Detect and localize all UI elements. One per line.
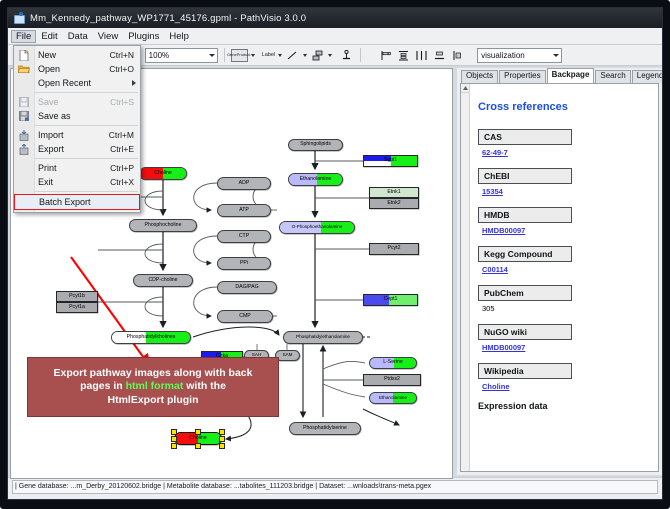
label-dropdown-icon[interactable] (278, 54, 282, 57)
pathvisio-window: Mm_Kennedy_pathway_WP1771_45176.gpml - P… (7, 7, 663, 500)
menu-label-save: Save (34, 97, 110, 107)
xref-value-kegg[interactable]: C00114 (482, 265, 652, 274)
blank-icon-2 (14, 161, 34, 175)
annotation-line3: HtmlExport plugin (108, 394, 199, 406)
xref-link-hmdb[interactable]: HMDB00097 (482, 226, 525, 235)
menu-item-new[interactable]: New Ctrl+N (14, 48, 140, 62)
xref-row-kegg: Kegg Compound C00114 (478, 244, 652, 274)
xref-row-hmdb: HMDB HMDB00097 (478, 205, 652, 235)
xref-label-nugo: NuGO wiki (478, 324, 572, 340)
menu-label-export: Export (34, 144, 110, 154)
node-o-phosphoethanolamine[interactable]: O-Phosphoethanolamine (279, 221, 355, 234)
annotation-line2-pre: pages in (80, 380, 126, 392)
menu-accel-import: Ctrl+M (109, 130, 140, 140)
node-ppi[interactable]: PPi (217, 257, 271, 270)
zoom-value: 100% (149, 51, 169, 60)
annotation-line1: Export pathway images along with back (54, 367, 253, 379)
toolbar-separator (224, 48, 225, 62)
menu-item-open-recent[interactable]: Open Recent (14, 76, 140, 90)
menu-label-print: Print (34, 163, 110, 173)
menu-item-exit[interactable]: Exit Ctrl+X (14, 175, 140, 189)
shape-dropdown-icon[interactable] (328, 54, 332, 57)
selection-handle-sw[interactable] (171, 443, 177, 449)
tab-legend[interactable]: Legend (632, 70, 663, 83)
toolbar-separator-2 (360, 48, 361, 62)
pathvisio-app-icon (13, 12, 25, 24)
datanode-button[interactable]: GeneProduct (231, 49, 248, 62)
group-button[interactable] (432, 48, 447, 63)
side-panel: Objects Properties Backpage Search Legen… (457, 68, 662, 475)
node-cmp[interactable]: CMP (217, 310, 273, 323)
menu-item-export[interactable]: Export Ctrl+E (14, 142, 140, 156)
xref-row-pubchem: PubChem 305 (478, 283, 652, 313)
xref-link-kegg[interactable]: C00114 (482, 265, 508, 274)
xref-row-chebi: ChEBI 15354 (478, 166, 652, 196)
node-pcyt2[interactable]: Pcyt2 (369, 243, 419, 255)
xref-value-chebi[interactable]: 15354 (482, 187, 652, 196)
menu-accel-print: Ctrl+P (110, 163, 140, 173)
selection-handle-n[interactable] (195, 429, 201, 435)
xref-value-nugo[interactable]: HMDB00097 (482, 343, 652, 352)
node-sgpl1[interactable]: Sgpl1 (363, 155, 418, 167)
xref-label-hmdb: HMDB (478, 207, 572, 223)
selection-handle-w[interactable] (171, 436, 177, 442)
node-pcyt1a[interactable]: Pcyt1a (56, 302, 98, 313)
menu-data[interactable]: Data (63, 30, 93, 43)
node-phosphatidylserine[interactable]: Phosphatidylserine (289, 422, 361, 435)
import-icon (14, 128, 34, 142)
xref-link-chebi[interactable]: 15354 (482, 187, 503, 196)
xref-link-nugo[interactable]: HMDB00097 (482, 343, 525, 352)
node-etnk2[interactable]: Etnk2 (369, 198, 419, 209)
xref-label-kegg: Kegg Compound (478, 246, 572, 262)
menu-bar[interactable]: File Edit Data View Plugins Help (8, 28, 662, 45)
xref-link-cas[interactable]: 62-49-7 (482, 148, 508, 157)
expression-data-heading: Expression data (478, 401, 652, 411)
menu-item-import[interactable]: Import Ctrl+M (14, 128, 140, 142)
menu-label-save-as: Save as (34, 111, 134, 121)
distribute-button[interactable] (414, 48, 429, 63)
side-tab-strip[interactable]: Objects Properties Backpage Search Legen… (457, 68, 662, 83)
folder-icon (14, 62, 34, 76)
anchor-tool-button[interactable] (339, 48, 354, 63)
export-icon (14, 142, 34, 156)
blank-icon-3 (14, 175, 34, 189)
xref-value-wikipedia[interactable]: Choline (482, 382, 652, 391)
menu-accel-exit: Ctrl+X (110, 177, 140, 187)
xref-value-pubchem: 305 (482, 304, 652, 313)
menu-label-exit: Exit (34, 177, 110, 187)
node-ethanolamine[interactable]: Ethanolamine (288, 173, 343, 186)
window-title: Mm_Kennedy_pathway_WP1771_45176.gpml - P… (30, 13, 306, 24)
menu-accel-new: Ctrl+N (110, 50, 140, 60)
menu-label-open-recent: Open Recent (34, 78, 140, 88)
node-cept1[interactable]: Cept1 (363, 294, 418, 306)
xref-label-wikipedia: Wikipedia (478, 363, 572, 379)
zoom-combobox[interactable]: 100% (145, 48, 218, 63)
annotation-text: Export pathway images along with back pa… (48, 367, 259, 406)
node-cdp-choline[interactable]: CDP-choline (133, 274, 193, 287)
status-bar: | Gene database: ...m_Derby_20120602.bri… (8, 477, 662, 495)
annotation-callout: Export pathway images along with back pa… (27, 357, 279, 417)
save-icon (14, 95, 34, 109)
menu-plugins[interactable]: Plugins (123, 30, 164, 43)
node-adp[interactable]: ADP (217, 177, 271, 190)
datanode-dropdown-icon[interactable] (251, 54, 255, 57)
node-sphingolipids[interactable]: Sphingolipids (288, 139, 343, 151)
xref-label-pubchem: PubChem (478, 285, 572, 301)
blank-icon-4 (15, 195, 35, 209)
save-as-icon (14, 109, 34, 123)
node-phosphocholine[interactable]: Phosphocholine (129, 219, 197, 232)
xref-label-chebi: ChEBI (478, 168, 572, 184)
menu-item-batch-export[interactable]: Batch Export (14, 194, 140, 210)
node-pcyt1b[interactable]: Pcyt1b (56, 291, 98, 302)
window-shadow (14, 500, 662, 503)
backpage-pane: Cross references CAS 62-49-7 ChEBI 15354… (460, 83, 659, 472)
menu-item-save: Save Ctrl+S (14, 95, 140, 109)
menu-file[interactable]: File (11, 30, 36, 43)
menu-edit[interactable]: Edit (36, 30, 62, 43)
backpage-scrollbar[interactable] (461, 84, 470, 471)
node-phosphatidylcholines[interactable]: Phosphatidylkholines (111, 331, 191, 344)
align-stack-button[interactable] (396, 48, 411, 63)
menu-item-print[interactable]: Print Ctrl+P (14, 161, 140, 175)
menu-separator-3 (35, 158, 138, 159)
cross-references-heading: Cross references (478, 101, 652, 113)
annotation-highlight: html format (126, 380, 184, 392)
backpage-content: Cross references CAS 62-49-7 ChEBI 15354… (470, 84, 658, 471)
tab-objects[interactable]: Objects (461, 70, 498, 83)
menu-accel-save: Ctrl+S (110, 97, 140, 107)
visualization-combobox[interactable]: visualization (477, 48, 562, 63)
menu-label-new: New (34, 50, 110, 60)
xref-value-hmdb[interactable]: HMDB00097 (482, 226, 652, 235)
menu-label-import: Import (34, 130, 109, 140)
xref-label-cas: CAS (478, 129, 572, 145)
node-ptdss2[interactable]: Ptdss2 (363, 374, 421, 386)
line-tool-button[interactable] (285, 48, 300, 63)
xref-row-cas: CAS 62-49-7 (478, 127, 652, 157)
status-text: | Gene database: ...m_Derby_20120602.bri… (12, 480, 658, 494)
menu-view[interactable]: View (93, 30, 123, 43)
annotation-line2-post: with the (183, 380, 226, 392)
tab-search[interactable]: Search (595, 70, 630, 83)
menu-help[interactable]: Help (164, 30, 194, 43)
menu-separator-2 (35, 125, 138, 126)
visualization-value: visualization (481, 51, 525, 60)
selection-handle-s[interactable] (195, 443, 201, 449)
xref-link-wikipedia[interactable]: Choline (482, 382, 510, 391)
selection-handle-e[interactable] (219, 436, 225, 442)
order-button[interactable] (450, 48, 465, 63)
menu-item-save-as[interactable]: Save as (14, 109, 140, 123)
line-dropdown-icon[interactable] (303, 54, 307, 57)
align-left-button[interactable] (378, 48, 393, 63)
scroll-up-icon[interactable] (461, 84, 469, 93)
label-button[interactable]: Label (262, 52, 275, 58)
submenu-arrow-icon (132, 80, 136, 86)
selection-handle-nw[interactable] (171, 429, 177, 435)
menu-separator-1 (35, 92, 138, 93)
xref-value-cas[interactable]: 62-49-7 (482, 148, 652, 157)
screenshot-root: Mm_Kennedy_pathway_WP1771_45176.gpml - P… (0, 0, 670, 509)
node-dag-pag[interactable]: DAG/PAG (217, 281, 277, 294)
title-bar: Mm_Kennedy_pathway_WP1771_45176.gpml - P… (8, 8, 662, 28)
selection-handle-ne[interactable] (219, 429, 225, 435)
chevron-down-icon-2 (553, 54, 559, 57)
xref-row-wikipedia: Wikipedia Choline (478, 361, 652, 391)
menu-accel-open: Ctrl+O (109, 64, 140, 74)
chevron-down-icon (209, 54, 215, 57)
node-ethanolamine-2[interactable]: Ethanolamine (369, 392, 417, 404)
tab-properties[interactable]: Properties (499, 70, 545, 83)
menu-label-open: Open (34, 64, 109, 74)
shape-tool-button[interactable] (310, 48, 325, 63)
xref-row-nugo: NuGO wiki HMDB00097 (478, 322, 652, 352)
node-atp[interactable]: ATP (217, 204, 271, 217)
node-phosphatidylethanolamine[interactable]: Phosphatidylethanolamine (283, 331, 363, 344)
tab-backpage[interactable]: Backpage (547, 68, 595, 83)
menu-accel-export: Ctrl+E (110, 144, 140, 154)
menu-separator-4 (35, 191, 138, 192)
blank-icon (14, 76, 34, 90)
menu-item-open[interactable]: Open Ctrl+O (14, 62, 140, 76)
node-choline[interactable]: Choline (139, 167, 187, 180)
new-file-icon (14, 48, 34, 62)
file-menu-dropdown[interactable]: New Ctrl+N Open Ctrl+O Open Recent Save … (13, 45, 141, 213)
node-ctp[interactable]: CTP (217, 230, 271, 243)
menu-label-batch-export: Batch Export (35, 197, 139, 207)
node-l-serine[interactable]: L-Serine (369, 357, 417, 369)
selection-handle-se[interactable] (219, 443, 225, 449)
node-etnk1[interactable]: Etnk1 (369, 187, 419, 198)
